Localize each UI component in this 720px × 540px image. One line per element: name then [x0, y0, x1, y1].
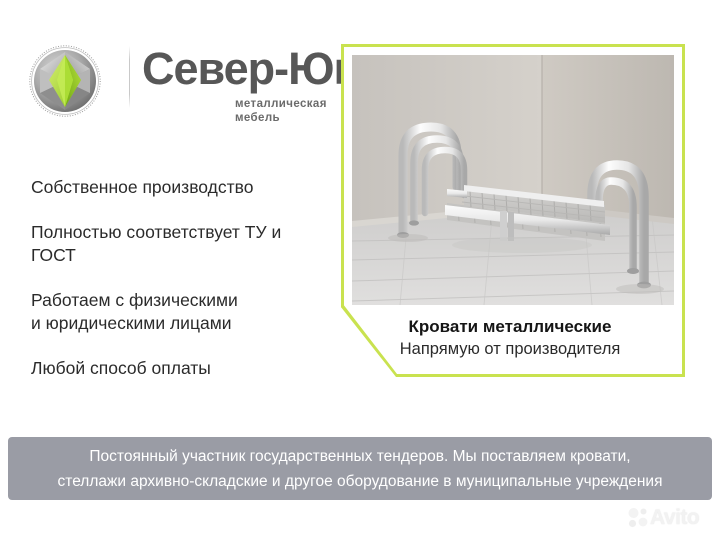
avito-dots-icon [627, 507, 649, 529]
avito-watermark: Avito [627, 505, 711, 531]
diamond-emblem-icon [28, 44, 102, 118]
brand-logo: Север-Юг металлическая мебель [28, 42, 328, 132]
promo-caption: Кровати металлические Напрямую от произв… [341, 316, 679, 361]
promo-panel: Кровати металлические Напрямую от произв… [341, 44, 685, 377]
product-photo [352, 55, 674, 305]
promo-title: Кровати металлические [341, 316, 679, 338]
tender-banner: Постоянный участник государственных тенд… [8, 437, 712, 500]
feature-item: Любой способ оплаты [31, 357, 321, 380]
feature-item: Полностью соответствует ТУ и ГОСТ [31, 221, 321, 267]
feature-list: Собственное производство Полностью соотв… [31, 176, 321, 380]
advertisement-canvas: Север-Юг металлическая мебель Собственно… [0, 0, 720, 540]
avito-wordmark: Avito [650, 507, 699, 529]
logo-divider [129, 46, 130, 108]
feature-item: Собственное производство [31, 176, 321, 199]
feature-item: Работаем с физическими и юридическими ли… [31, 289, 321, 335]
promo-subtitle: Напрямую от производителя [341, 338, 679, 361]
logo-wordmark: Север-Юг [142, 42, 351, 96]
tender-banner-text: Постоянный участник государственных тенд… [52, 444, 669, 494]
